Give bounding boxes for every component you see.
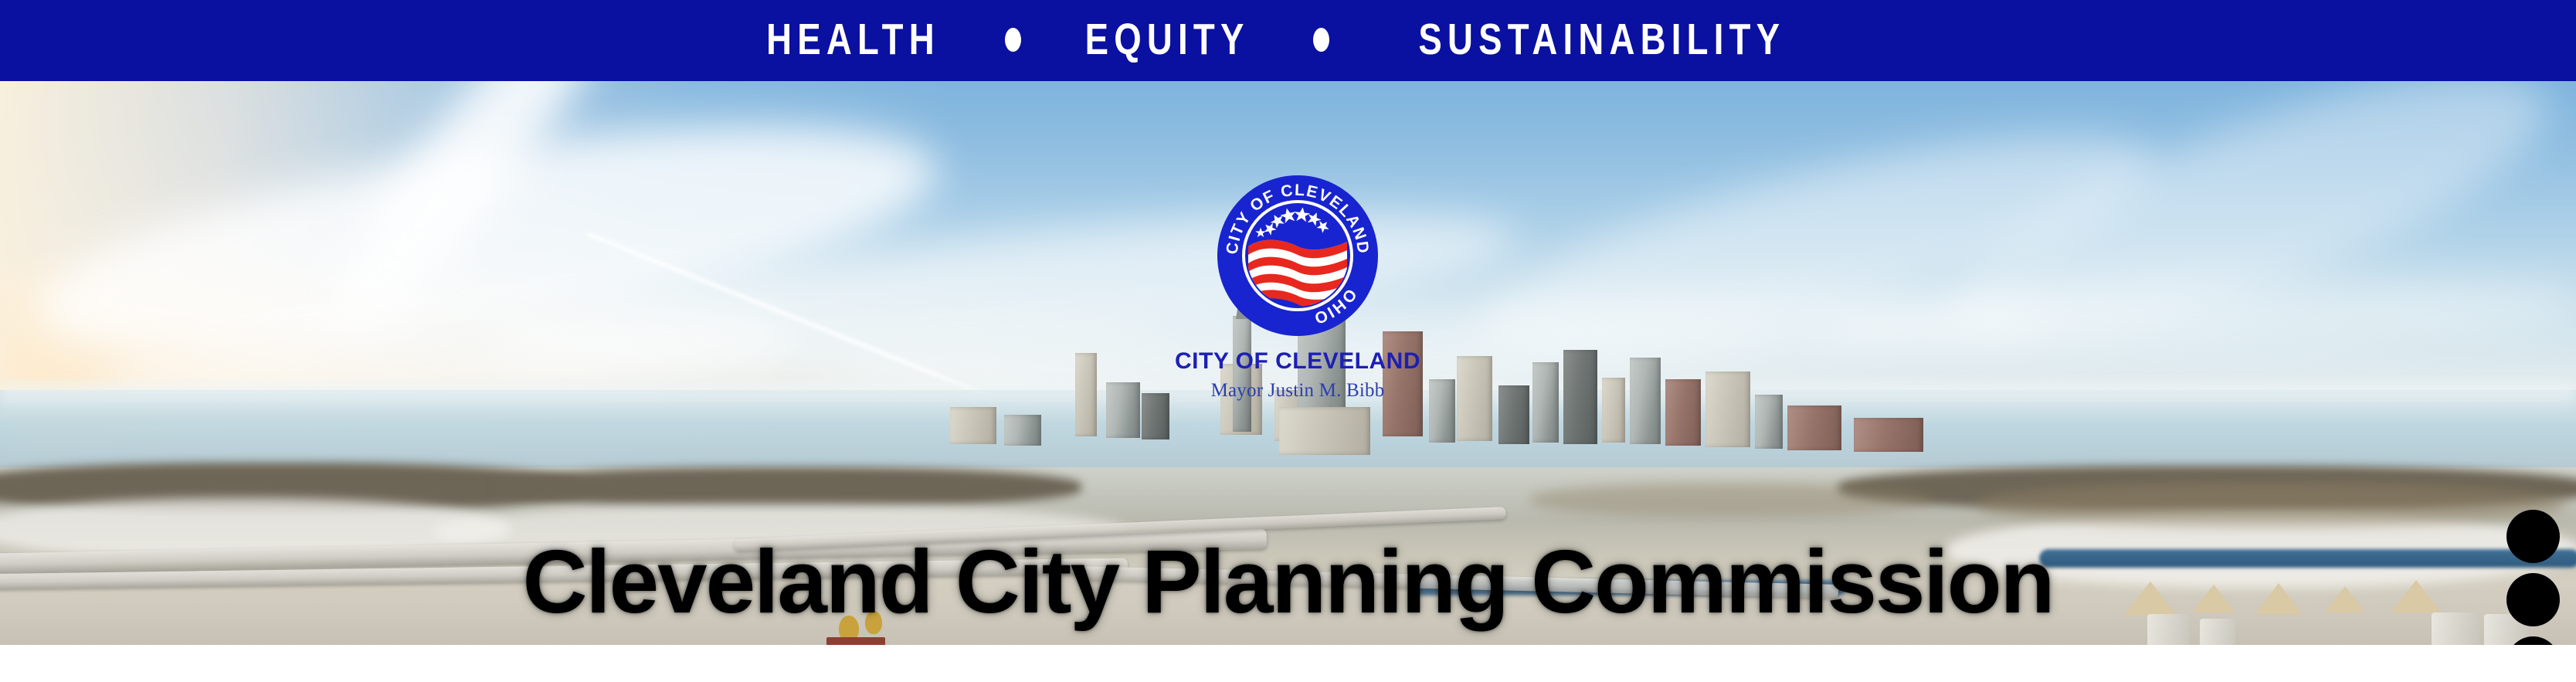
organization-name: CITY OF CLEVELAND [1153, 350, 1442, 373]
tagline-banner: HEALTH EQUITY SUSTAINABILITY [0, 0, 2576, 81]
mayor-name: Mayor Justin M. Bibb [1153, 381, 1442, 400]
bullet-dot-icon [1005, 28, 1021, 52]
social-links [2502, 510, 2564, 645]
bullet-dot-icon [1313, 28, 1329, 52]
building [1457, 356, 1492, 441]
youtube-icon [2517, 521, 2548, 552]
building [1075, 353, 1097, 436]
building [950, 407, 996, 444]
building [1854, 418, 1923, 452]
hero-photo: CITY OF CLEVELAND OHIO [0, 81, 2576, 645]
facebook-link[interactable] [2506, 636, 2560, 645]
youtube-link[interactable] [2506, 510, 2560, 563]
building [1142, 393, 1169, 439]
building [1563, 350, 1597, 444]
church-body [826, 637, 885, 645]
tagline-word-sustainability: SUSTAINABILITY [1419, 18, 1786, 62]
tagline-word-equity: EQUITY [1085, 18, 1250, 62]
earthworks [1529, 483, 1931, 517]
tagline-words: HEALTH EQUITY SUSTAINABILITY [745, 18, 1831, 62]
tagline-word-health: HEALTH [766, 18, 940, 62]
page-root: HEALTH EQUITY SUSTAINABILITY [0, 0, 2576, 682]
building [1602, 378, 1625, 443]
page-title: Cleveland City Planning Commission [0, 537, 2576, 626]
instagram-icon [2517, 585, 2548, 616]
instagram-link[interactable] [2506, 573, 2560, 626]
building [1665, 379, 1701, 446]
building [1106, 382, 1140, 438]
earthworks [1977, 483, 2564, 526]
city-of-cleveland-seal-icon: CITY OF CLEVELAND OHIO [1214, 172, 1381, 339]
building [1532, 362, 1559, 443]
treeline [494, 467, 1081, 507]
building [1004, 415, 1041, 446]
building [1498, 385, 1529, 444]
building [1705, 372, 1750, 447]
building-podium [1279, 407, 1370, 455]
city-of-cleveland-brand-block: CITY OF CLEVELAND OHIO [1153, 172, 1442, 400]
building [1630, 358, 1661, 444]
building [1755, 395, 1783, 449]
bottom-strip [0, 645, 2576, 682]
building [1787, 405, 1841, 450]
